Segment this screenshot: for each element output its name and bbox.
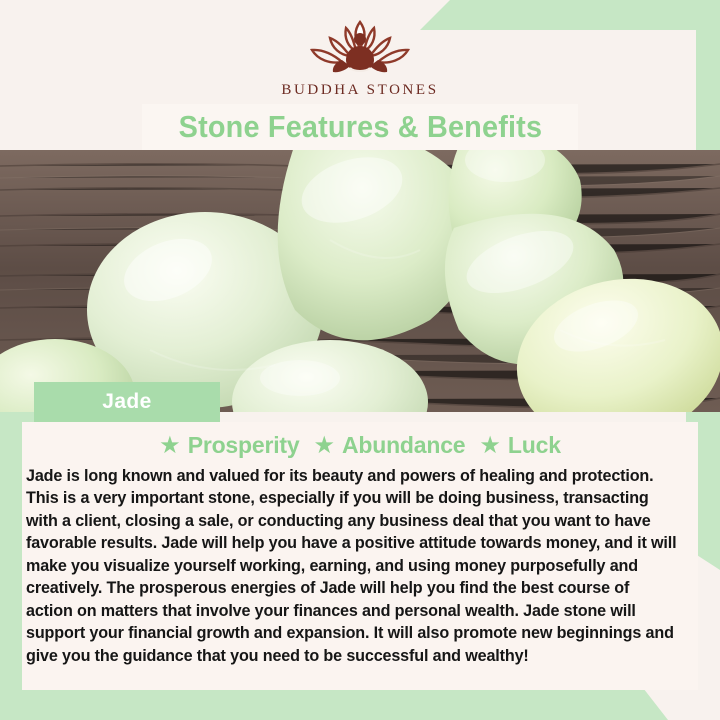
lotus-meditation-icon	[296, 14, 424, 80]
stone-name-banner: Jade	[34, 382, 220, 422]
photo-graphic	[0, 150, 720, 412]
description-panel: ★ Prosperity ★ Abundance ★ Luck Jade is …	[22, 422, 698, 690]
star-icon: ★	[159, 434, 181, 458]
brand-name: BUDDHA STONES	[281, 82, 438, 99]
benefit-label: Abundance	[342, 432, 465, 459]
stone-description-text: Jade is long known and valued for its be…	[26, 465, 680, 667]
star-icon: ★	[313, 434, 335, 458]
star-icon: ★	[479, 434, 501, 458]
stone-name-label: Jade	[102, 390, 151, 414]
title-banner: Stone Features & Benefits	[142, 104, 578, 150]
page-title: Stone Features & Benefits	[178, 109, 542, 145]
benefit-label: Luck	[508, 432, 561, 459]
benefit-item-abundance: ★ Abundance	[313, 432, 465, 459]
benefits-row: ★ Prosperity ★ Abundance ★ Luck	[22, 422, 698, 459]
benefit-item-prosperity: ★ Prosperity	[159, 432, 299, 459]
jade-stones-photo	[0, 150, 720, 412]
brand-logo: BUDDHA STONES	[0, 14, 720, 106]
infographic-page: BUDDHA STONES Stone Features & Benefits	[0, 0, 720, 720]
benefit-label: Prosperity	[188, 432, 300, 459]
benefit-item-luck: ★ Luck	[479, 432, 560, 459]
